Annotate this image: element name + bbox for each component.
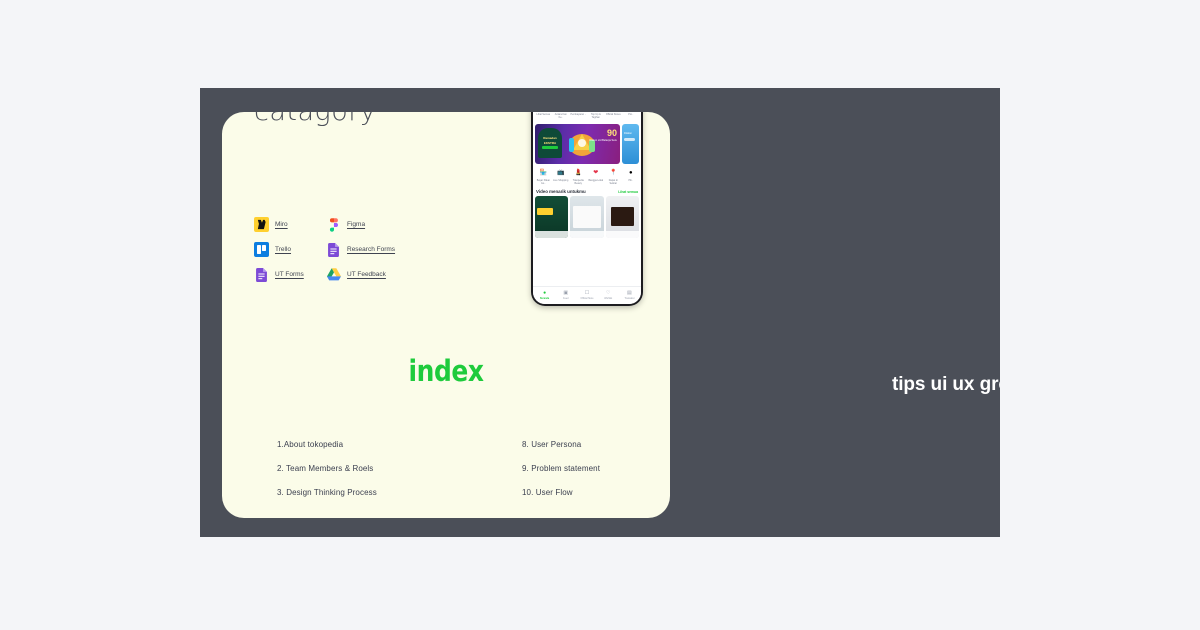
tool-item-research-forms[interactable]: Research Forms: [326, 242, 408, 257]
quick-menu-item[interactable]: ● Pro..: [623, 112, 640, 119]
index-item: 9. Problem statement: [466, 464, 647, 473]
tool-item-miro[interactable]: Miro: [254, 217, 326, 232]
category-label: Tokopedia Beauty: [570, 179, 587, 185]
tool-label: UT Forms: [275, 271, 304, 278]
nav-label: Official Store: [580, 298, 593, 300]
quick-menu-label: Antara Kan Ke..: [553, 113, 570, 119]
more-icon: ●: [626, 168, 636, 178]
category-item[interactable]: 🏪 Bayar Pakai Go..: [535, 168, 552, 185]
tool-label: Research Forms: [347, 246, 395, 253]
category-item[interactable]: 📍 Dapat di Sekitar: [605, 168, 622, 185]
category-label: Dapat di Sekitar: [605, 179, 622, 185]
promo-price: 90 Diskon s/d Belanja Seru: [589, 129, 617, 142]
quick-menu-item[interactable]: 📋 Top Up & Tagihan: [588, 112, 605, 119]
shop-icon: 🏪: [538, 168, 548, 178]
index-list: 1.About tokopedia 8. User Persona 2. Tea…: [277, 440, 647, 497]
quick-menu-label: Top Up & Tagihan: [588, 113, 605, 119]
tools-list: Miro Figma Trello: [254, 217, 408, 282]
video-thumbnail[interactable]: [570, 196, 603, 238]
nav-item-wishlist[interactable]: ♡ Wishlist: [598, 290, 619, 300]
video-tag: [537, 208, 553, 215]
video-section-header: Video menarik untukmu Lihat semua: [533, 187, 641, 196]
quick-menu-item[interactable]: 💳 Pembayaran ..: [570, 112, 587, 119]
quick-menu-item[interactable]: ❄ Lihat Semua: [535, 112, 552, 119]
index-item: 8. User Persona: [466, 440, 647, 449]
tool-label: UT Feedback: [347, 271, 386, 278]
video-caption-bar: [570, 231, 603, 238]
video-caption-bar: [606, 231, 639, 238]
category-label: Live Shopping: [553, 179, 570, 182]
quick-menu-label: Official Stores: [605, 113, 622, 116]
promo-badge-line2: EKSTRA: [544, 142, 556, 145]
tool-item-ut-feedback[interactable]: UT Feedback: [326, 267, 408, 282]
video-product-area: [611, 207, 634, 226]
index-item: 3. Design Thinking Process: [277, 488, 458, 497]
index-item: 10. User Flow: [466, 488, 647, 497]
nav-label: Feed: [563, 298, 568, 300]
feed-icon: ▣: [562, 290, 569, 297]
index-title: index: [253, 354, 638, 388]
trello-icon: [254, 242, 269, 257]
tool-label: Trello: [275, 246, 291, 253]
page-title: tips ui ux grosir mahasiswa: [892, 371, 1000, 399]
miro-icon: [254, 217, 269, 232]
video-section-link[interactable]: Lihat semua: [618, 190, 638, 194]
category-item[interactable]: ● Pili..: [623, 168, 640, 185]
video-product-area: [573, 206, 600, 228]
promo-price-value: 90: [589, 129, 617, 138]
category-label: Pili..: [623, 179, 640, 182]
video-caption-bar: [535, 231, 568, 238]
promo-banner-main[interactable]: Ramadan EKSTRA 90: [535, 124, 620, 164]
figma-icon: [326, 217, 341, 232]
phone-screen: ❄ Lihat Semua 🎁 Antara Kan Ke.. 💳 Pembay…: [533, 112, 641, 304]
live-icon: 📺: [556, 168, 566, 178]
index-item: 1.About tokopedia: [277, 440, 458, 449]
heart-icon: ❤: [591, 168, 601, 178]
quick-menu-item[interactable]: 🏦 Official Stores: [605, 112, 622, 119]
tool-label: Figma: [347, 221, 365, 228]
heart-icon: ♡: [605, 290, 612, 297]
slide-card: catagory Miro Fi: [222, 112, 670, 518]
promo-badge-line1: Ramadan: [543, 137, 557, 140]
presentation-panel: catagory Miro Fi: [200, 88, 1000, 537]
quick-menu-item[interactable]: 🎁 Antara Kan Ke..: [553, 112, 570, 119]
video-section-title: Video menarik untukmu: [536, 189, 586, 194]
slide-heading: catagory: [254, 112, 376, 127]
nav-label: Transaksi: [624, 298, 634, 300]
category-item[interactable]: 📺 Live Shopping: [553, 168, 570, 185]
category-row: 🏪 Bayar Pakai Go.. 📺 Live Shopping 💄 Tok…: [533, 164, 641, 187]
promo-price-note: Diskon s/d Belanja Seru: [589, 139, 617, 142]
promo-side-card[interactable]: Diskon: [622, 124, 639, 164]
google-forms-icon: [326, 242, 341, 257]
video-thumbnail-row: [533, 196, 641, 238]
quick-menu-label: Pro..: [623, 113, 640, 116]
store-icon: ☐: [584, 290, 591, 297]
category-item[interactable]: ❤ Bangga Lokal: [588, 168, 605, 185]
nav-item-official-store[interactable]: ☐ Official Store: [576, 290, 597, 300]
video-thumbnail[interactable]: [535, 196, 568, 238]
beauty-icon: 💄: [573, 168, 583, 178]
index-item: 2. Team Members & Roels: [277, 464, 458, 473]
category-item[interactable]: 💄 Tokopedia Beauty: [570, 168, 587, 185]
nav-item-feed[interactable]: ▣ Feed: [555, 290, 576, 300]
promo-badge: Ramadan EKSTRA: [538, 128, 562, 158]
category-label: Bayar Pakai Go..: [535, 179, 552, 185]
tool-item-trello[interactable]: Trello: [254, 242, 326, 257]
receipt-icon: ▤: [626, 290, 633, 297]
google-drive-icon: [326, 267, 341, 282]
tool-item-figma[interactable]: Figma: [326, 217, 408, 232]
tool-item-ut-forms[interactable]: UT Forms: [254, 267, 326, 282]
nav-label: Beranda: [540, 298, 549, 300]
promo-badge-bar: [542, 146, 558, 149]
category-label: Bangga Lokal: [588, 179, 605, 182]
bottom-navigation: ● Beranda ▣ Feed ☐ Official Store ♡ Wish…: [533, 286, 641, 304]
promo-side-bar: [624, 138, 635, 141]
promo-side-label: Diskon: [624, 132, 632, 135]
quick-menu-label: Pembayaran ..: [570, 113, 587, 116]
nav-item-beranda[interactable]: ● Beranda: [534, 290, 555, 300]
promo-banner[interactable]: Ramadan EKSTRA 90: [535, 124, 639, 164]
tool-label: Miro: [275, 221, 288, 228]
pin-icon: 📍: [608, 168, 618, 178]
phone-mockup: ❄ Lihat Semua 🎁 Antara Kan Ke.. 💳 Pembay…: [531, 112, 643, 306]
nav-label: Wishlist: [604, 298, 612, 300]
quick-menu-label: Lihat Semua: [535, 113, 552, 116]
home-icon: ●: [541, 290, 548, 297]
quick-menu-row: ❄ Lihat Semua 🎁 Antara Kan Ke.. 💳 Pembay…: [533, 112, 641, 122]
video-thumbnail[interactable]: [606, 196, 639, 238]
nav-item-transaksi[interactable]: ▤ Transaksi: [619, 290, 640, 300]
google-forms-icon: [254, 267, 269, 282]
